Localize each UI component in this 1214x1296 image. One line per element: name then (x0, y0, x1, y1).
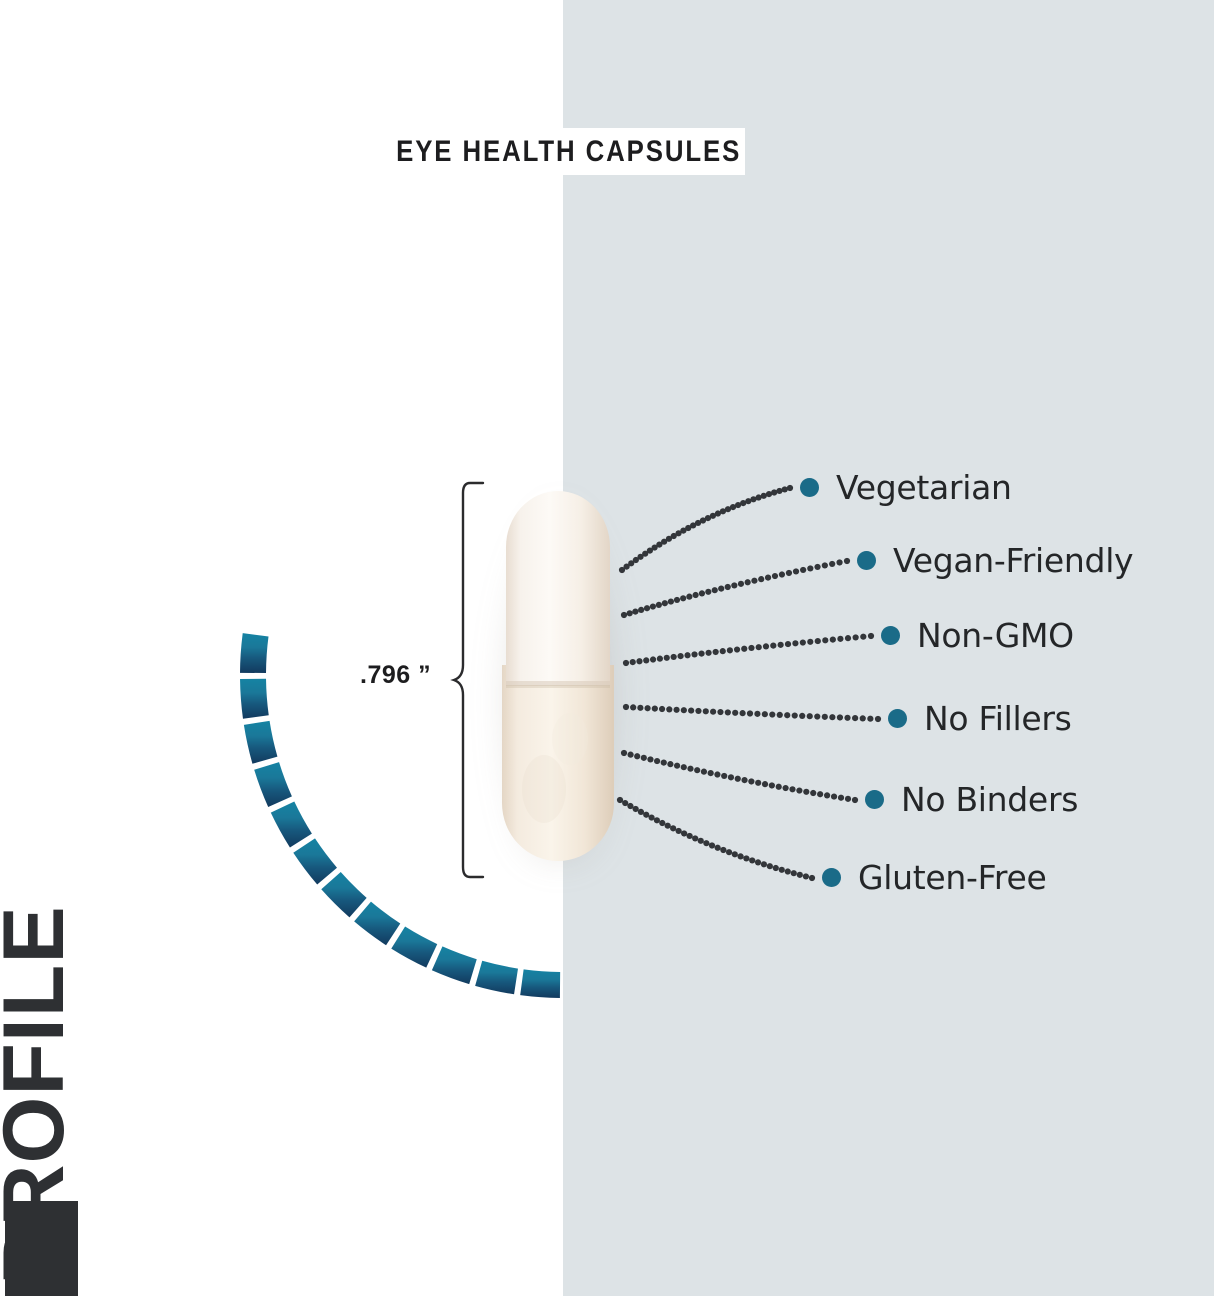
feature-bullet-icon (888, 709, 907, 728)
feature-callout: Non-GMO (881, 616, 1074, 655)
feature-label: Vegan-Friendly (893, 541, 1133, 580)
feature-label: Non-GMO (917, 616, 1074, 655)
feature-callout: Vegan-Friendly (857, 541, 1133, 580)
infographic-canvas: .796 ” EYE HEALTH CAPSULES PROFILE Veget… (0, 0, 1214, 1296)
product-capsule-image (500, 489, 616, 861)
corner-block (5, 1201, 78, 1296)
feature-label: Vegetarian (836, 468, 1012, 507)
feature-label: Gluten-Free (858, 858, 1046, 897)
feature-bullet-icon (865, 790, 884, 809)
feature-label: No Binders (901, 780, 1078, 819)
feature-bullet-icon (881, 626, 900, 645)
feature-callout: Gluten-Free (822, 858, 1046, 897)
feature-callout: Vegetarian (800, 468, 1012, 507)
feature-callout: No Fillers (888, 699, 1072, 738)
dimension-label: .796 ” (360, 661, 431, 690)
feature-bullet-icon (800, 478, 819, 497)
page-title: EYE HEALTH CAPSULES (396, 135, 741, 169)
feature-callout: No Binders (865, 780, 1078, 819)
dimension-brace (450, 480, 490, 880)
feature-bullet-icon (822, 868, 841, 887)
feature-bullet-icon (857, 551, 876, 570)
feature-label: No Fillers (924, 699, 1072, 738)
title-band: EYE HEALTH CAPSULES (392, 128, 745, 175)
